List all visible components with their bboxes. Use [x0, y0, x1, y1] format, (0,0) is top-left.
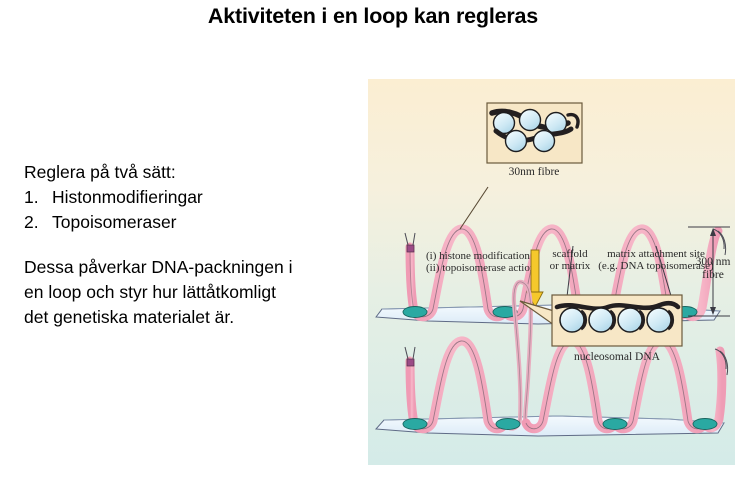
label-matrix-site-line2: (e.g. DNA topoisomerase) — [598, 260, 714, 272]
label-nucleosomal-dna: nucleosomal DNA — [574, 351, 661, 363]
page-title: Aktiviteten i en loop kan regleras — [0, 4, 746, 29]
label-30nm-fibre: 30nm fibre — [509, 166, 560, 178]
process-annotation: (i) histone modification (ii) topoisomer… — [426, 250, 536, 274]
list-item-number: 1. — [24, 185, 52, 210]
paragraph-line: det genetiska materialet är. — [24, 305, 334, 330]
list-item-number: 2. — [24, 210, 52, 235]
paragraph-line: en loop och styr hur lättåtkomligt — [24, 280, 334, 305]
list-item: 1. Histonmodifieringar — [24, 185, 344, 210]
label-scaffold-line1: scaffold — [552, 248, 588, 260]
label-matrix-site-line1: matrix attachment site — [607, 248, 705, 260]
label-process-line2: (ii) topoisomerase action — [426, 262, 536, 274]
label-process-line1: (i) histone modification — [426, 250, 530, 262]
chromatin-loop-figure: 30nm fibre 300 nm fibre — [368, 79, 735, 465]
list-item: 2. Topoisomeraser — [24, 210, 344, 235]
body-paragraph: Dessa påverkar DNA-packningen i en loop … — [24, 255, 334, 330]
body-lead-line: Reglera på två sätt: — [24, 160, 344, 185]
body-text-block: Reglera på två sätt: 1. Histonmodifierin… — [24, 160, 344, 235]
label-scaffold-line2: or matrix — [550, 260, 591, 272]
paragraph-line: Dessa påverkar DNA-packningen i — [24, 255, 334, 280]
slide-canvas: Aktiviteten i en loop kan regleras Regle… — [0, 0, 746, 482]
list-item-label: Topoisomeraser — [52, 210, 177, 235]
regulation-list: 1. Histonmodifieringar 2. Topoisomeraser — [24, 185, 344, 235]
list-item-label: Histonmodifieringar — [52, 185, 203, 210]
